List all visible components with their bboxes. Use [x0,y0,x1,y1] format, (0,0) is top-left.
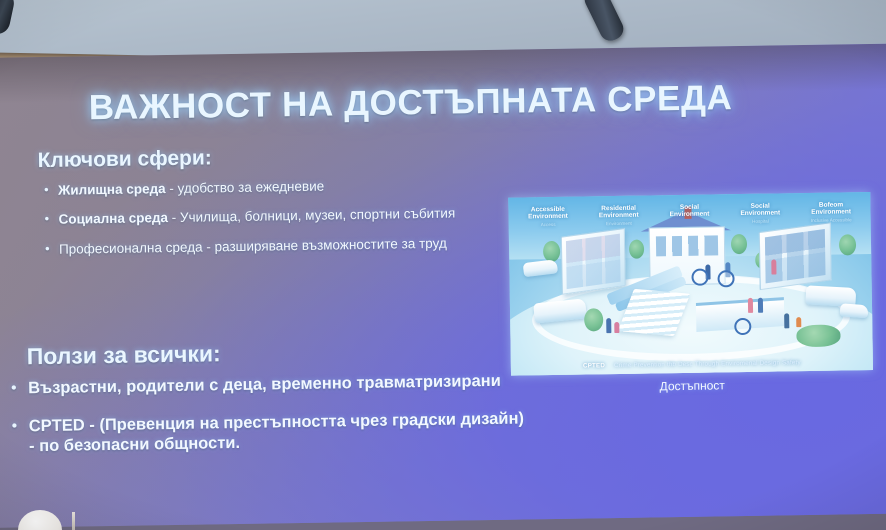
tree-icon [543,241,560,262]
illustration-label: Accessible EnvironmentAccess [515,206,581,228]
page-title: ВАЖНОСТ НА ДОСТЪПНАТА СРЕДА [88,78,732,128]
figure-caption: Достъпност [511,376,873,396]
illustration-label: Bofeom EnvironmentInclusive Accessible [798,201,864,223]
list-item: Възрастни, родители с деца, временно тра… [9,371,529,399]
illustration-sublabel: Environment [586,220,652,226]
illustration-label: Social Environment [656,203,722,225]
office-building-icon [759,222,832,290]
person-icon [784,313,789,328]
illustration-sublabel: Hospital [727,218,793,224]
person-icon [748,298,753,313]
car-icon [840,303,869,318]
bullet-lead-text: Социална среда [58,211,168,228]
cpted-acronym: CPTED [583,362,605,369]
tree-icon [839,234,856,255]
illustration-frame: Accessible EnvironmentAccess Residential… [508,192,873,376]
projected-slide-photo: ВАЖНОСТ НА ДОСТЪПНАТА СРЕДА Ключови сфер… [0,0,886,530]
person-icon [771,259,776,274]
list-item: Жилищна среда - удобство за ежедневие [42,176,462,199]
illustration-label-title: Social Environment [740,203,780,218]
illustration-sublabel: Access [515,221,581,227]
person-icon [796,317,801,327]
foreground-pole [72,512,75,530]
illustration-label-title: Residential Environment [599,205,639,220]
illustration-sublabel [657,219,723,220]
illustration-label: Social EnvironmentHospital [727,202,793,224]
illustration-label-title: Bofeom Environment [811,201,851,216]
section-heading-benefits: Ползи за всички: [26,340,220,370]
benefits-list: Възрастни, родители с деца, временно тра… [9,371,530,476]
illustration-label-title: Social Environment [670,204,710,219]
bullet-lead-text: Жилищна среда [58,181,166,198]
hedge-icon [796,324,840,347]
apartment-building-icon [561,228,626,295]
person-icon [606,318,611,333]
tree-icon [584,308,603,331]
person-icon [614,322,619,333]
bullet-rest-text: - удобство за ежедневие [165,179,324,196]
person-icon [758,298,763,313]
presentation-slide: ВАЖНОСТ НА ДОСТЪПНАТА СРЕДА Ключови сфер… [0,43,886,528]
list-item: Социална среда - Училища, болници, музеи… [42,206,462,229]
bullet-rest-text: Професионална среда - разширяване възмож… [59,236,447,257]
car-icon [523,259,558,277]
benefit-text: Възрастни, родители с деца, временно тра… [28,372,501,397]
bullet-rest-text: - Училища, болници, музеи, спортни събит… [168,206,455,226]
illustration-label: Residential EnvironmentEnvironment [586,204,652,226]
accessible-environment-illustration: Accessible EnvironmentAccess Residential… [508,192,873,376]
illustration-sublabel: Inclusive Accessible [798,217,864,223]
tree-icon [731,234,747,254]
benefit-text: CPTED - (Превенция на престъпността чрез… [29,410,524,455]
tree-icon [629,240,644,259]
slide-content: ВАЖНОСТ НА ДОСТЪПНАТА СРЕДА Ключови сфер… [0,43,886,528]
list-item: Професионална среда - разширяване възмож… [43,235,463,258]
key-areas-list: Жилищна среда - удобство за ежедневие Со… [42,176,463,271]
illustration-label-title: Accessible Environment [528,206,568,221]
list-item: CPTED - (Превенция на престъпността чрез… [10,410,531,457]
section-heading-key-areas: Ключови сфери: [37,146,212,173]
